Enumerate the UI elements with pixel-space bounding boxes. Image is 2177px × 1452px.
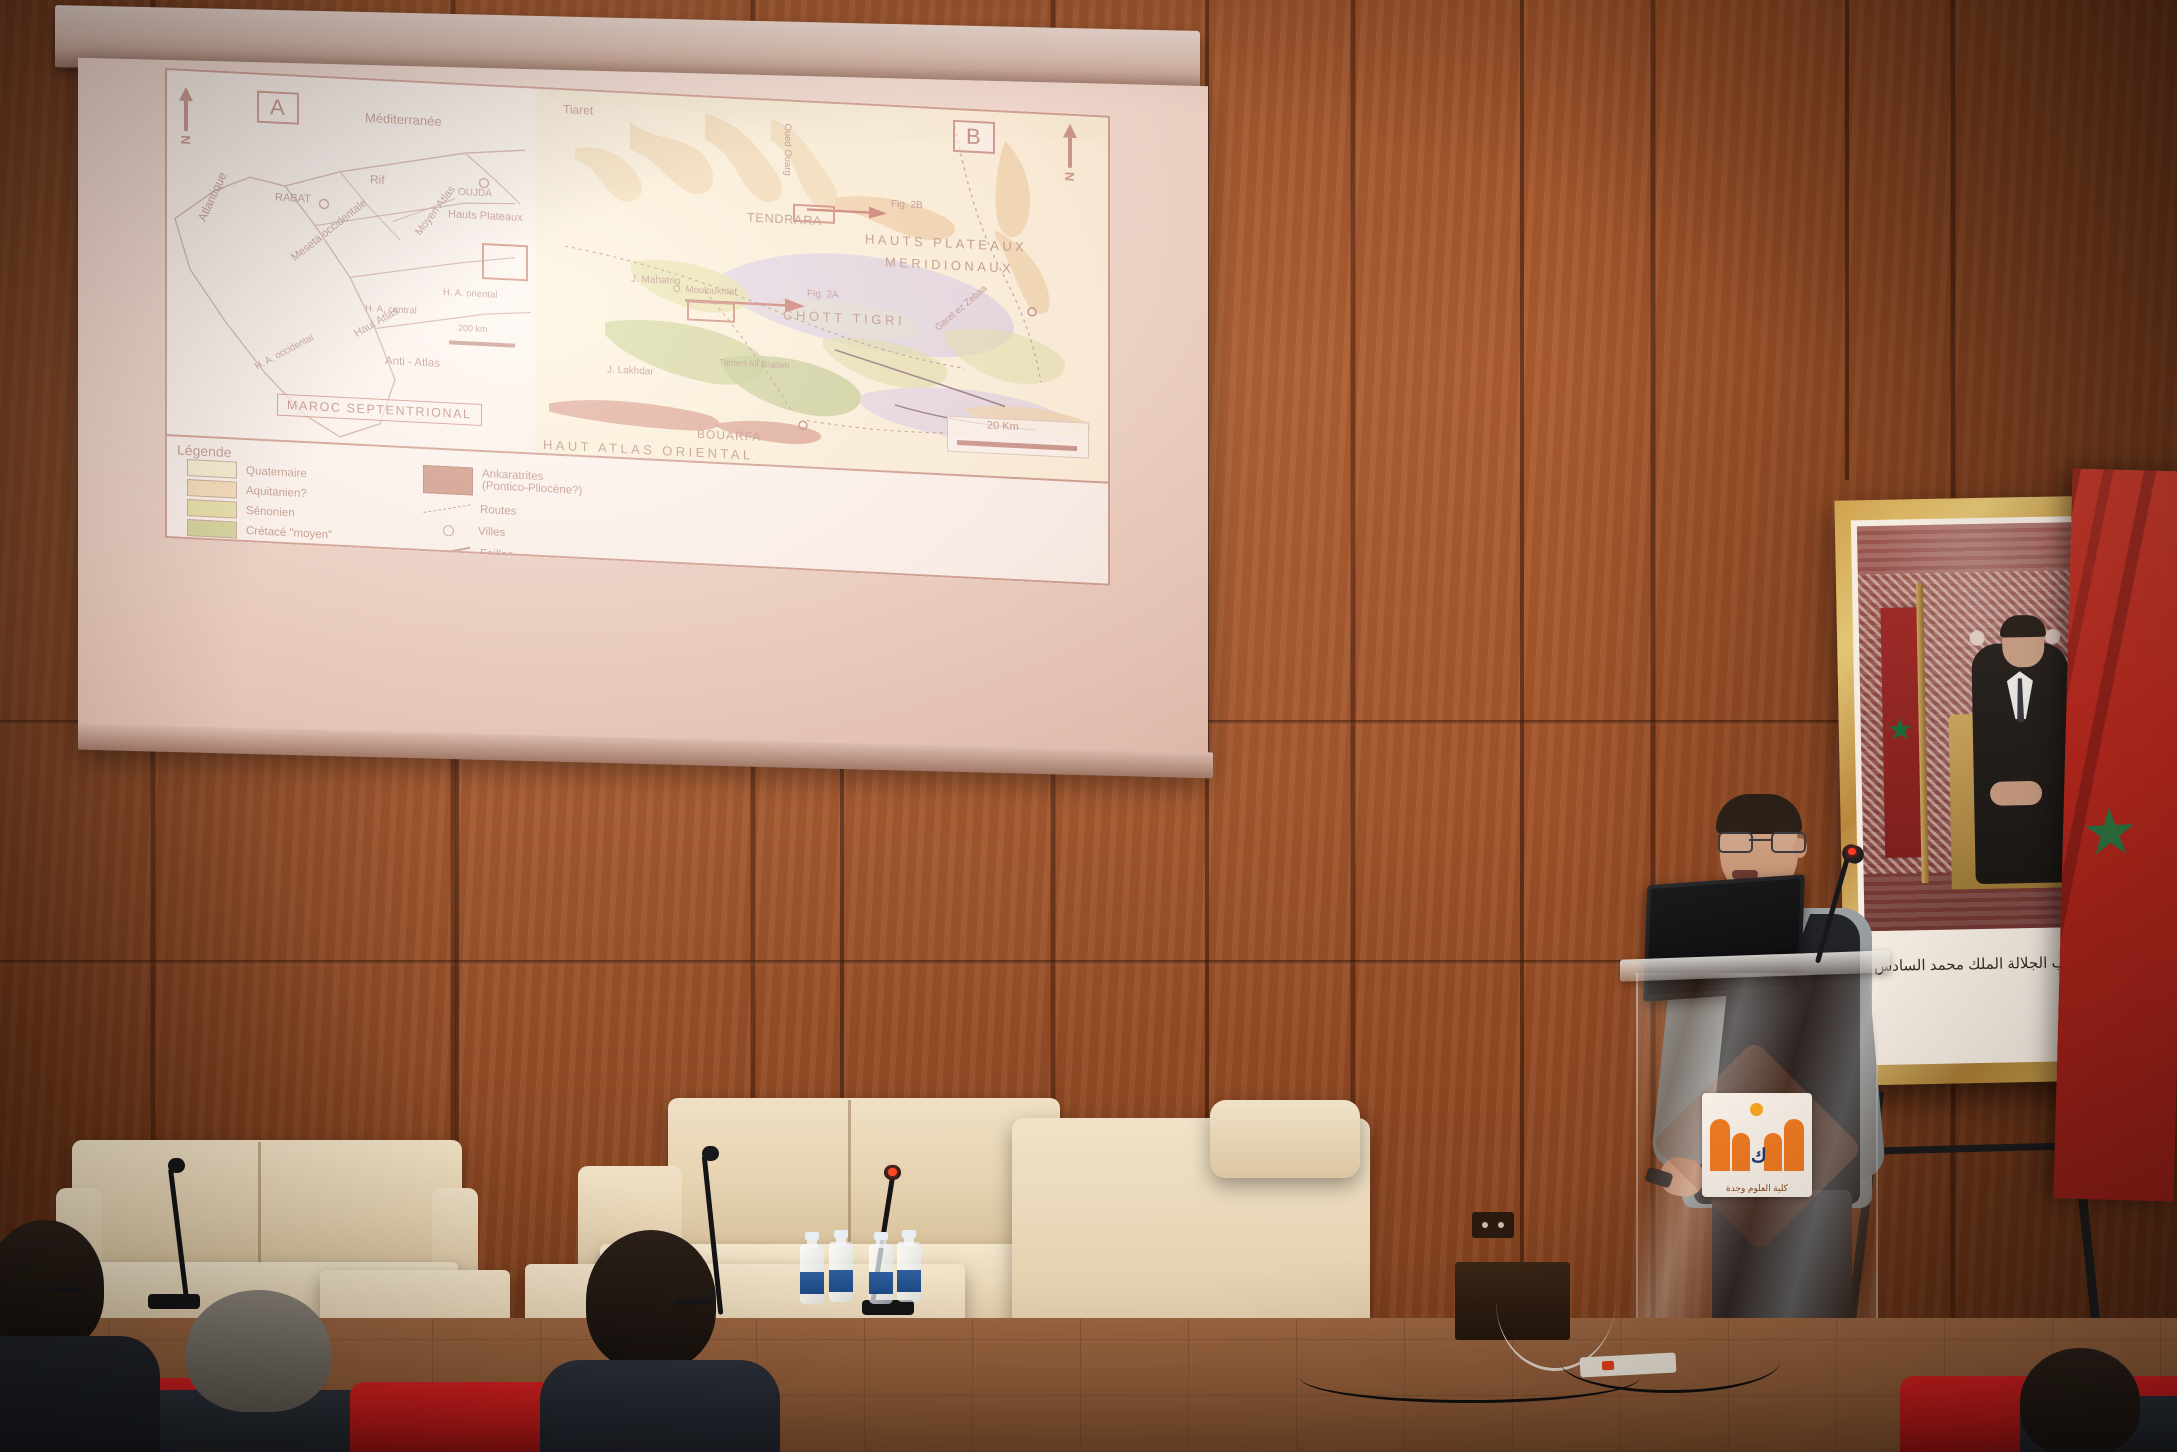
audience-shoulders	[540, 1360, 780, 1452]
water-bottle	[800, 1232, 824, 1304]
logo-arch-icon	[1710, 1119, 1730, 1171]
wall-panel-line	[1845, 0, 1849, 480]
microphone-head	[702, 1146, 719, 1161]
legend-label: Crétacé "moyen"	[246, 525, 332, 541]
legend-swatch	[187, 459, 237, 479]
map-label: Tiaret	[563, 102, 593, 118]
moroccan-flag-drape: ★	[2053, 469, 2177, 1202]
legend-item: Failles	[423, 545, 513, 562]
legend-item: Paléozoïque	[187, 559, 310, 582]
legend-item: Aquitanien?	[187, 479, 307, 502]
king-hands	[1990, 781, 2042, 806]
microphone-led	[888, 1168, 897, 1176]
armchair-right-backrest	[1210, 1100, 1360, 1178]
legend-swatch	[187, 499, 237, 519]
panel-tag-b: B	[953, 120, 995, 154]
map-panel-a: N A Méditerranée Atlantique RABAT Rif Mo…	[165, 68, 537, 453]
water-bottle	[897, 1230, 921, 1302]
map-panel-b: N B Tiaret HAUTS PLATEAUX MERIDIONAUX TE…	[535, 87, 1110, 482]
legend-item: Sénonien	[187, 499, 295, 521]
logo-arch-icon	[1732, 1133, 1750, 1171]
detail-box-b1	[687, 300, 735, 322]
logo-arch-icon	[1784, 1119, 1804, 1171]
map-label: OUJDA	[458, 187, 492, 200]
legend-title: Légende	[177, 442, 232, 461]
flag-star-icon: ★	[2080, 798, 2140, 864]
audience-head	[2020, 1348, 2140, 1452]
presentation-slide: N A Méditerranée Atlantique RABAT Rif Mo…	[165, 68, 1110, 586]
faculty-logo: ك كلية العلوم وجدة	[1702, 1093, 1812, 1197]
north-arrow-b: N	[1063, 123, 1077, 183]
map-label: Fig. 2B	[891, 199, 923, 212]
legend-box-icon	[423, 569, 459, 586]
logo-arch-icon	[1764, 1133, 1782, 1171]
wall-socket[interactable]	[1472, 1212, 1514, 1238]
map-label: RABAT	[275, 192, 311, 206]
legend-swatch	[187, 479, 237, 499]
scale-label-b: 20 Km	[987, 420, 1019, 434]
legend-item: Figures de détail	[423, 569, 569, 586]
legend-swatch	[187, 539, 237, 559]
speaker-eyebrow	[1772, 826, 1798, 830]
legend-label: Failles	[480, 548, 513, 562]
podium-microphone-led	[1848, 848, 1856, 855]
legend-label: Villes	[478, 526, 505, 539]
microphone-base	[148, 1294, 200, 1309]
map-label: Fig. 2A	[807, 288, 839, 301]
legend-solid-line-icon	[423, 547, 470, 558]
detail-box-a	[482, 243, 528, 281]
map-label: J. Lakhdar	[607, 364, 654, 377]
legend-swatch	[187, 559, 237, 579]
legend-item: Routes	[423, 501, 516, 518]
legend-label: Paléozoïque	[246, 565, 310, 580]
audience-shoulders	[0, 1336, 160, 1452]
water-bottle	[869, 1232, 893, 1304]
geology-figure: N A Méditerranée Atlantique RABAT Rif Mo…	[165, 68, 1110, 586]
eyeglasses-icon	[1718, 832, 1802, 850]
logo-arabic-letter: ك	[1751, 1145, 1767, 1168]
projection-screen: N A Méditerranée Atlantique RABAT Rif Mo…	[78, 58, 1208, 777]
legend-label: Jurassique	[246, 545, 302, 560]
audience-row	[0, 1374, 2177, 1452]
panel-tag-a: A	[257, 91, 299, 125]
power-strip-led	[1602, 1361, 1614, 1371]
microphone-head	[168, 1158, 185, 1173]
legend-dashed-line-icon	[423, 504, 470, 513]
legend-circle-icon	[443, 525, 454, 537]
legend-item: Ankaratrites (Pontico-Pliocène?)	[423, 465, 582, 501]
legend-label: Sénonien	[246, 505, 295, 519]
legend-item: Jurassique	[187, 539, 302, 562]
legend-arrow-icon	[464, 574, 475, 585]
legend-swatch	[187, 519, 237, 539]
legend-label: Quaternaire	[246, 465, 307, 480]
legend-label: Routes	[480, 504, 516, 518]
legend-item: Villes	[423, 523, 505, 539]
legend-label: Aquitanien?	[246, 485, 307, 500]
audience-head	[186, 1290, 331, 1412]
north-arrow-a: N	[179, 87, 193, 147]
legend-item: Quaternaire	[187, 459, 307, 482]
detail-box-b2	[793, 204, 835, 224]
logo-arabic-text: كلية العلوم وجدة	[1702, 1183, 1812, 1194]
conference-photo: N A Méditerranée Atlantique RABAT Rif Mo…	[0, 0, 2177, 1452]
wall-panel-line	[1520, 0, 1524, 1330]
map-label: Oued Ouarg	[782, 123, 793, 176]
speaker-eyebrow	[1722, 826, 1748, 830]
logo-sun-icon	[1750, 1103, 1763, 1116]
legend-swatch	[423, 465, 473, 496]
scale-label-a: 200 km	[458, 323, 488, 334]
map-label: Rif	[370, 172, 385, 187]
legend-label: Figures de détail	[484, 574, 569, 586]
water-bottle	[829, 1230, 853, 1302]
